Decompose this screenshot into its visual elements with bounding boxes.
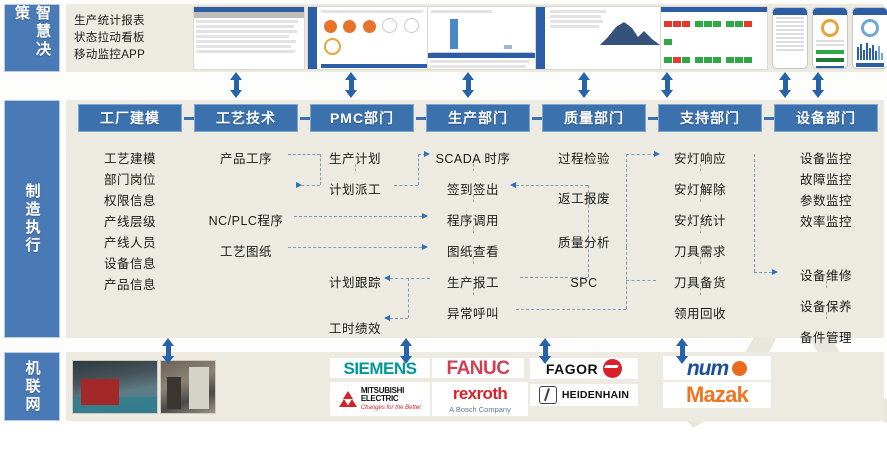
- item-pmc-1: 计划派工: [329, 179, 381, 198]
- gauge-icon: [324, 38, 341, 55]
- dept-button-factory-modeling[interactable]: 工厂建模: [78, 104, 182, 132]
- gauge-icon: [363, 20, 376, 33]
- item-factory-modeling-4: 产线人员: [104, 232, 156, 251]
- arrowhead-icon: [384, 315, 390, 321]
- item-equipment-2: 参数监控: [800, 190, 852, 209]
- vertical-double-arrow: [578, 72, 591, 98]
- arrowhead-icon: [424, 151, 430, 157]
- item-quality-3: SPC: [570, 276, 597, 290]
- logo-mazak: Mazak: [663, 382, 771, 408]
- logo-mitsubishi: MITSUBISHI ELECTRIC Changes for the Bett…: [330, 382, 430, 416]
- connector: [408, 278, 409, 318]
- dashboard-rows: [194, 18, 304, 57]
- decision-bullets: 生产统计报表 状态拉动看板 移动监控APP: [74, 8, 184, 68]
- layer-label-decision-text: 智慧决策: [11, 5, 53, 71]
- arrowhead-icon: [422, 213, 428, 219]
- item-support-1: 安灯解除: [674, 179, 726, 198]
- item-factory-modeling-2: 权限信息: [104, 190, 156, 209]
- item-production-3: 图纸查看: [447, 241, 499, 260]
- item-support-5: 领用回收: [674, 303, 726, 322]
- dept-button-production[interactable]: 生产部门: [426, 104, 530, 132]
- connector: [294, 216, 422, 217]
- connector: [418, 154, 419, 185]
- item-process-technology-0: 产品工序: [220, 148, 272, 167]
- item-production-0: SCADA 时序: [436, 148, 511, 167]
- item-production-1: 签到签出: [447, 179, 499, 198]
- vertical-double-arrow: [812, 72, 825, 98]
- vertical-double-arrow: [462, 72, 475, 98]
- item-factory-modeling-1: 部门岗位: [104, 169, 156, 188]
- connector: [516, 185, 588, 186]
- vertical-double-arrow: [676, 338, 689, 364]
- logo-siemens: SIEMENS: [330, 358, 430, 378]
- bar: [504, 45, 512, 49]
- connector: [390, 318, 408, 319]
- factory-floor-photo: [72, 360, 158, 414]
- layer-label-network: 机联网: [4, 352, 60, 421]
- item-factory-modeling-0: 工艺建模: [104, 148, 156, 167]
- gauge-icon: [821, 19, 839, 37]
- logo-num-text: num: [687, 358, 728, 379]
- mobile-list-app: [772, 7, 808, 69]
- machine-cabinet-photo: [160, 360, 216, 414]
- layer-label-execution-text: 制造执行: [22, 183, 43, 255]
- item-process-technology-1: NC/PLC程序: [209, 210, 284, 229]
- item-production-5: 异常呼叫: [447, 303, 499, 322]
- dashboard-side-rail: [536, 7, 545, 69]
- mitsubishi-diamond-icon: [339, 391, 357, 407]
- item-pmc-2: 计划跟踪: [329, 272, 381, 291]
- connector: [626, 154, 627, 247]
- connector: [394, 185, 418, 186]
- bar-chart-dashboard: [427, 6, 537, 70]
- connector: [754, 154, 755, 272]
- arrowhead-icon: [772, 269, 778, 275]
- vertical-double-arrow: [661, 72, 674, 98]
- item-support-3: 刀具需求: [674, 241, 726, 260]
- num-mark-icon: [732, 361, 747, 376]
- status-grid: [661, 12, 767, 70]
- item-equipment-0: 设备监控: [800, 148, 852, 167]
- connector: [626, 154, 656, 155]
- item-factory-modeling-6: 产品信息: [104, 274, 156, 293]
- item-production-2: 程序调用: [447, 210, 499, 229]
- decision-bullet-3: 移动监控APP: [74, 48, 184, 63]
- trend-chart-dashboard: [535, 6, 665, 70]
- layer-label-execution: 制造执行: [4, 100, 60, 338]
- report-table-dashboard: [193, 6, 305, 70]
- item-factory-modeling-3: 产线层级: [104, 211, 156, 230]
- layer-label-decision: 智慧决策: [4, 4, 60, 72]
- item-equipment-1: 故障监控: [800, 169, 852, 188]
- dashboard-side-rail: [308, 7, 317, 69]
- vertical-double-arrow: [162, 338, 175, 364]
- heidenhain-mark-icon: [539, 386, 557, 404]
- gauge-icon: [382, 18, 397, 33]
- gauge-icon: [324, 20, 337, 33]
- logo-heidenhain-text: HEIDENHAIN: [562, 390, 629, 401]
- item-support-2: 安灯统计: [674, 210, 726, 229]
- bar: [450, 19, 458, 49]
- connector: [320, 154, 321, 185]
- arrowhead-icon: [422, 244, 428, 250]
- connector: [288, 154, 320, 155]
- vertical-double-arrow: [779, 72, 792, 98]
- item-pmc-0: 生产计划: [329, 148, 381, 167]
- logo-fagor-text: FAGOR: [546, 362, 598, 376]
- kpi-gauge-dashboard: [307, 6, 437, 70]
- gauge-icon: [343, 20, 356, 33]
- dept-button-quality[interactable]: 质量部门: [542, 104, 646, 132]
- vertical-double-arrow: [539, 338, 552, 364]
- logo-rexroth-text2: A Bosch Company: [449, 405, 511, 414]
- vertical-double-arrow: [345, 72, 358, 98]
- item-equipment-3: 效率监控: [800, 211, 852, 230]
- logo-mitsubishi-text2: ELECTRIC: [361, 395, 421, 403]
- dept-button-process-technology[interactable]: 工艺技术: [194, 104, 298, 132]
- trend-area: [547, 7, 664, 69]
- dept-button-support[interactable]: 支持部门: [658, 104, 762, 132]
- item-quality-1: 返工报废: [558, 188, 610, 207]
- arrowhead-icon: [654, 151, 660, 157]
- arrowhead-icon: [510, 182, 516, 188]
- logo-fanuc: FANUC: [432, 358, 524, 378]
- item-quality-2: 质量分析: [558, 232, 610, 251]
- mini-bar-chart: [853, 40, 887, 60]
- logo-rexroth: rexroth A Bosch Company: [432, 382, 528, 416]
- status-grid-dashboard: [660, 6, 768, 70]
- connector: [390, 278, 430, 279]
- mobile-chart-app: [852, 7, 887, 69]
- arrowhead-icon: [296, 182, 302, 188]
- item-equipment-4: 设备维修: [800, 265, 852, 284]
- item-support-4: 刀具备货: [674, 272, 726, 291]
- gauge-icon: [404, 18, 419, 33]
- item-equipment-6: 备件管理: [800, 327, 852, 346]
- layer-label-network-text: 机联网: [22, 360, 43, 414]
- connector: [516, 309, 626, 310]
- connector: [626, 280, 656, 281]
- item-support-0: 安灯响应: [674, 148, 726, 167]
- vertical-double-arrow: [230, 72, 243, 98]
- gauge-area: [319, 7, 436, 70]
- logo-heidenhain: HEIDENHAIN: [530, 384, 638, 406]
- dept-button-equipment[interactable]: 设备部门: [774, 104, 878, 132]
- item-quality-0: 过程检验: [558, 148, 610, 167]
- logo-mazak-text: Mazak: [686, 384, 748, 406]
- item-pmc-3: 工时绩效: [329, 318, 381, 337]
- area-chart-icon: [600, 19, 660, 45]
- vertical-double-arrow: [400, 338, 413, 364]
- item-equipment-5: 设备保养: [800, 296, 852, 315]
- item-process-technology-2: 工艺图纸: [220, 241, 272, 260]
- logo-rexroth-text: rexroth: [453, 384, 507, 404]
- dept-button-pmc[interactable]: PMC部门: [310, 104, 414, 132]
- decision-bullet-2: 状态拉动看板: [74, 31, 184, 46]
- diagram-root: 人 智慧决策 制造执行 机联网 生产统计报表 状态拉动看板 移动监控APP: [0, 0, 887, 423]
- arrowhead-icon: [384, 275, 390, 281]
- logo-mitsubishi-tagline: Changes for the Better: [361, 405, 421, 411]
- item-production-4: 生产报工: [447, 272, 499, 291]
- gauge-icon: [861, 19, 879, 37]
- connector: [288, 247, 422, 248]
- decision-bullet-1: 生产统计报表: [74, 14, 184, 29]
- fagor-mark-icon: [603, 359, 622, 378]
- connector: [626, 247, 627, 309]
- item-factory-modeling-5: 设备信息: [104, 253, 156, 272]
- connector: [754, 272, 772, 273]
- mobile-gauge-app: [812, 7, 848, 69]
- bar-chart-area: [428, 7, 536, 53]
- logo-fanuc-text: FANUC: [447, 359, 510, 378]
